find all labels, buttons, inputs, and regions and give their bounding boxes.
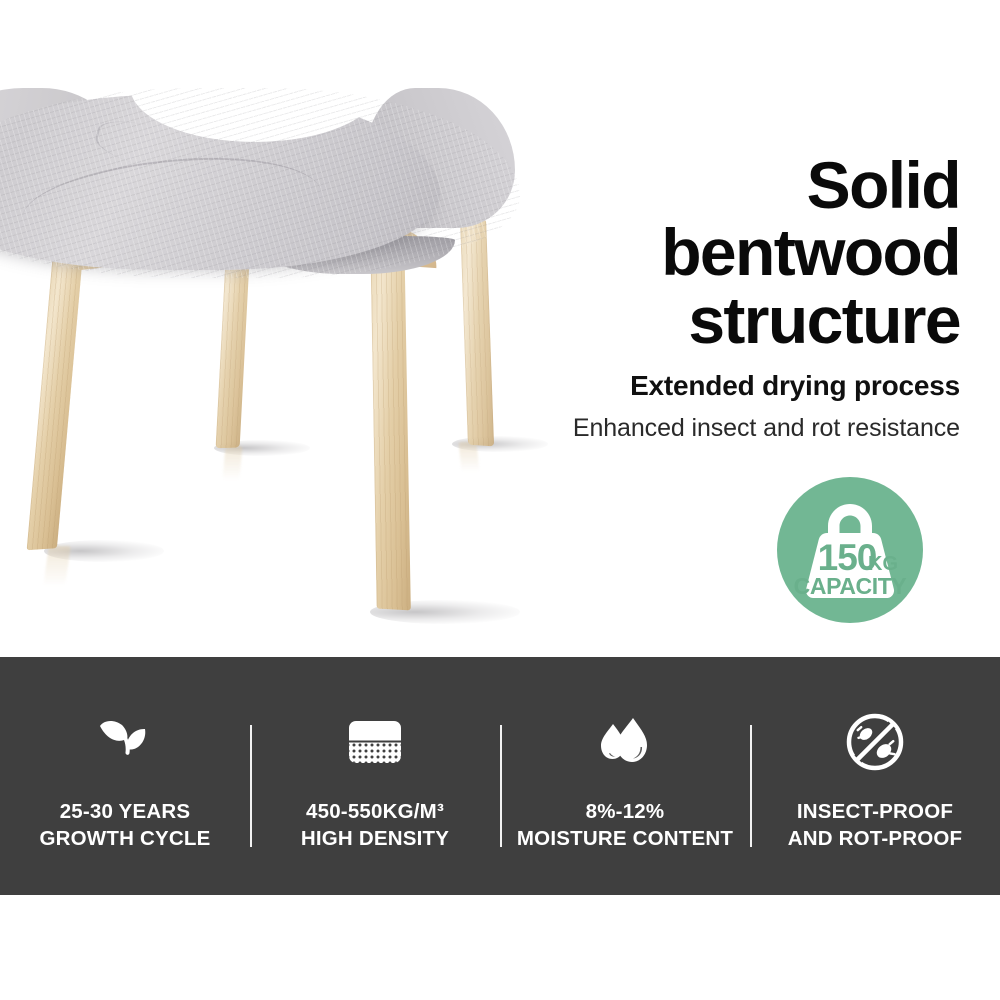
- feature-line-1: 450-550KG/M³: [306, 800, 444, 823]
- capacity-unit: KG: [868, 553, 898, 575]
- feature-line-2: AND ROT-PROOF: [788, 827, 963, 850]
- feature-cell-insect-proof: INSECT-PROOF AND ROT-PROOF: [750, 657, 1000, 895]
- leg-reflection-rear-right: [458, 442, 479, 472]
- sprout-leaf-icon: [89, 706, 161, 778]
- density-block-icon: [339, 706, 411, 778]
- feature-cell-growth-cycle: 25-30 YEARS GROWTH CYCLE: [0, 657, 250, 895]
- water-droplets-icon: [589, 706, 661, 778]
- feature-line-2: GROWTH CYCLE: [40, 827, 211, 850]
- feature-cell-high-density: 450-550KG/M³ HIGH DENSITY: [250, 657, 500, 895]
- chair-leg-front-left: [27, 229, 85, 550]
- feature-bar: 25-30 YEARS GROWTH CYCLE: [0, 657, 1000, 895]
- weight-capacity-icon: 150 KG CAPACITY: [777, 477, 923, 623]
- capacity-badge: 150 KG CAPACITY: [777, 477, 923, 623]
- headline-subtitle-secondary: Enhanced insect and rot resistance: [340, 414, 960, 443]
- headline-line-2: bentwood: [340, 219, 960, 286]
- feature-cell-moisture-content: 8%-12% MOISTURE CONTENT: [500, 657, 750, 895]
- leg-reflection-front-left: [43, 546, 71, 586]
- no-insect-icon: [839, 706, 911, 778]
- headline-line-3: structure: [340, 287, 960, 354]
- feature-line-1: 8%-12%: [586, 800, 665, 823]
- leg-reflection-rear-left: [223, 446, 243, 480]
- feature-line-1: 25-30 YEARS: [60, 800, 191, 823]
- feature-line-1: INSECT-PROOF: [797, 800, 953, 823]
- feature-label-insect-proof: INSECT-PROOF AND ROT-PROOF: [788, 798, 963, 852]
- feature-line-2: HIGH DENSITY: [301, 827, 449, 850]
- product-photo-area: Solid bentwood structure Extended drying…: [0, 0, 1000, 657]
- headline-block: Solid bentwood structure Extended drying…: [340, 152, 960, 443]
- product-feature-banner: Solid bentwood structure Extended drying…: [0, 0, 1000, 1000]
- feature-label-high-density: 450-550KG/M³ HIGH DENSITY: [301, 798, 449, 852]
- capacity-caption: CAPACITY: [794, 573, 907, 599]
- headline-subtitle: Extended drying process: [340, 370, 960, 402]
- feature-label-moisture-content: 8%-12% MOISTURE CONTENT: [517, 798, 733, 852]
- feature-line-2: MOISTURE CONTENT: [517, 827, 733, 850]
- headline-line-1: Solid: [340, 152, 960, 219]
- feature-label-growth-cycle: 25-30 YEARS GROWTH CYCLE: [40, 798, 211, 852]
